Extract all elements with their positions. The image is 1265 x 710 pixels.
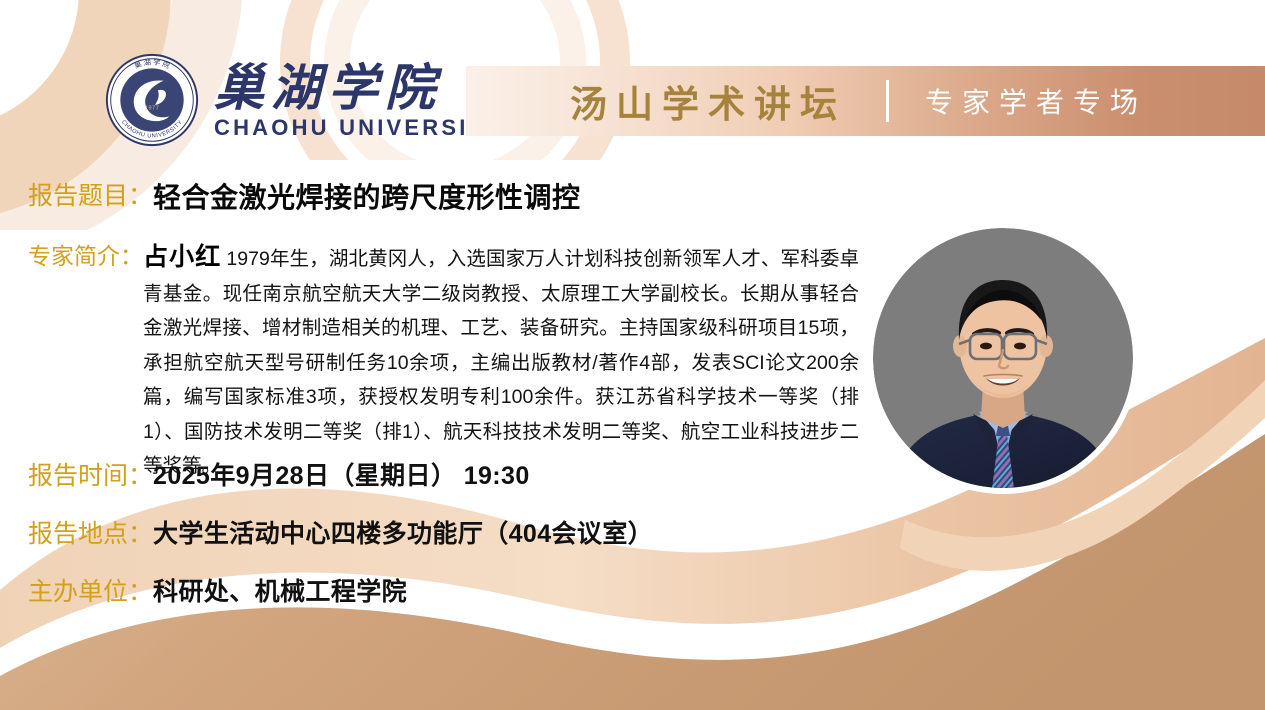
series-banner: 汤山学术讲坛 专家学者专场 bbox=[466, 66, 1265, 136]
svg-text:1977: 1977 bbox=[145, 106, 159, 112]
field-row-time: 报告时间： 2025年9月28日（星期日） 19:30 bbox=[28, 460, 530, 494]
field-row-organizer: 主办单位： 科研处、机械工程学院 bbox=[28, 576, 407, 610]
place-label: 报告地点： bbox=[28, 518, 153, 552]
speaker-bio-text: 1979年生，湖北黄冈人，入选国家万人计划科技创新领军人才、军科委卓青基金。现任… bbox=[143, 248, 859, 477]
speaker-name: 占小红 bbox=[143, 243, 221, 271]
university-name-en: CHAOHU UNIVERSITY bbox=[214, 116, 503, 140]
lecture-poster: 1977 巢 湖 学 院 CHAOHU UNIVERSITY 巢湖学院 CHAO… bbox=[0, 0, 1265, 710]
field-row-place: 报告地点： 大学生活动中心四楼多功能厅（404会议室） bbox=[28, 518, 653, 552]
field-row-bio: 专家简介： 占小红1979年生，湖北黄冈人，入选国家万人计划科技创新领军人才、军… bbox=[28, 240, 888, 484]
organizer-value: 科研处、机械工程学院 bbox=[153, 576, 407, 610]
time-label: 报告时间： bbox=[28, 460, 153, 494]
organizer-label: 主办单位： bbox=[28, 576, 153, 610]
place-value: 大学生活动中心四楼多功能厅（404会议室） bbox=[153, 518, 653, 552]
university-seal-icon: 1977 巢 湖 学 院 CHAOHU UNIVERSITY bbox=[104, 52, 200, 148]
university-name-block: 巢湖学院 CHAOHU UNIVERSITY bbox=[214, 62, 503, 141]
banner-divider bbox=[886, 80, 889, 122]
banner-subtitle: 专家学者专场 bbox=[925, 81, 1147, 121]
bio-label: 专家简介： bbox=[28, 240, 143, 273]
poster-header: 1977 巢 湖 学 院 CHAOHU UNIVERSITY 巢湖学院 CHAO… bbox=[0, 0, 1265, 160]
speaker-portrait bbox=[873, 228, 1133, 488]
time-value: 2025年9月28日（星期日） 19:30 bbox=[153, 460, 530, 494]
lecture-title: 轻合金激光焊接的跨尺度形性调控 bbox=[153, 180, 581, 216]
university-logo-block: 1977 巢 湖 学 院 CHAOHU UNIVERSITY 巢湖学院 CHAO… bbox=[104, 52, 503, 148]
university-name-cn: 巢湖学院 bbox=[214, 62, 503, 115]
banner-main-title: 汤山学术讲坛 bbox=[570, 74, 846, 128]
speaker-bio: 占小红1979年生，湖北黄冈人，入选国家万人计划科技创新领军人才、军科委卓青基金… bbox=[143, 240, 859, 484]
title-label: 报告题目： bbox=[28, 180, 153, 214]
field-row-title: 报告题目： 轻合金激光焊接的跨尺度形性调控 bbox=[28, 180, 581, 216]
